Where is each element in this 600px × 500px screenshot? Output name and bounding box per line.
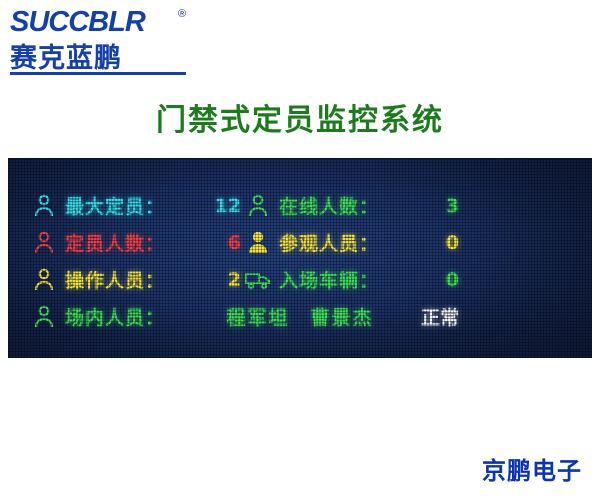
visitor-count-value: 0 xyxy=(407,232,463,254)
online-count-value: 3 xyxy=(407,195,463,217)
staff-quota-label: 定员人数： xyxy=(65,229,193,256)
onsite-personnel-names: 程军坦 曹景杰 xyxy=(193,303,407,330)
footer-brand-text: 京鹏电子 xyxy=(482,451,582,486)
person-head-icon xyxy=(31,230,57,256)
logo-chinese-text: 赛克蓝鹏 xyxy=(10,36,122,75)
person-head-icon xyxy=(31,304,57,330)
logo-english-text: SUCCBLR xyxy=(10,6,145,39)
visitor-count-label: 参观人员： xyxy=(279,229,407,256)
vehicles-entered-value: 0 xyxy=(407,269,463,291)
registered-trademark-icon: ® xyxy=(178,8,186,20)
led-display-panel: 最大定员： 12 在线人数： 3 定员人数： 6 参观人员： 0 操作人员： 2… xyxy=(8,158,592,358)
truck-icon xyxy=(245,267,271,293)
staff-quota-value: 6 xyxy=(193,232,245,254)
page-title: 门禁式定员监控系统 xyxy=(0,95,600,139)
person-head-icon xyxy=(245,230,271,256)
person-head-icon xyxy=(31,267,57,293)
onsite-personnel-label: 场内人员： xyxy=(65,303,193,330)
max-capacity-value: 12 xyxy=(193,195,245,217)
person-head-icon xyxy=(31,193,57,219)
led-readout-grid: 最大定员： 12 在线人数： 3 定员人数： 6 参观人员： 0 操作人员： 2… xyxy=(31,187,573,337)
company-logo: SUCCBLR ® 赛克蓝鹏 xyxy=(10,6,240,68)
max-capacity-label: 最大定员： xyxy=(65,192,193,219)
operator-count-label: 操作人员： xyxy=(65,266,193,293)
vehicles-entered-label: 入场车辆： xyxy=(279,266,407,293)
operator-count-value: 2 xyxy=(193,269,245,291)
person-head-icon xyxy=(245,193,271,219)
online-count-label: 在线人数： xyxy=(279,192,407,219)
status-badge: 正常 xyxy=(407,303,463,330)
logo-underline xyxy=(10,72,186,75)
